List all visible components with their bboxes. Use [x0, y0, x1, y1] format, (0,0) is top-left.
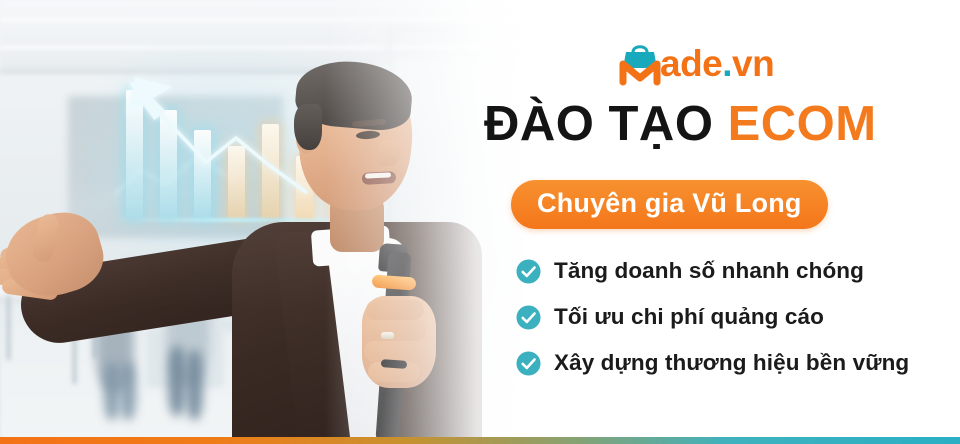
finger	[364, 341, 424, 362]
logo-mark	[616, 38, 664, 84]
list-item: Tăng doanh số nhanh chóng	[516, 248, 946, 294]
shopping-bag-icon	[616, 38, 664, 84]
bottom-accent-bar	[0, 437, 960, 444]
check-circle-icon	[516, 259, 541, 284]
finger	[366, 300, 424, 320]
logo-text-vn: vn	[732, 43, 774, 84]
page-title: ĐÀO TẠO ECOM	[484, 98, 946, 151]
expert-badge: Chuyên gia Vũ Long	[511, 180, 828, 229]
headline-main: ĐÀO TẠO	[484, 97, 713, 151]
list-item-label: Tối ưu chi phí quảng cáo	[554, 304, 824, 330]
headline-accent: ECOM	[728, 97, 877, 151]
logo-text-ade: ade	[660, 43, 722, 84]
list-item: Tối ưu chi phí quảng cáo	[516, 294, 946, 340]
microphone-grip-band	[381, 359, 407, 369]
finger	[364, 320, 426, 341]
finger-ring	[381, 332, 394, 339]
list-item-label: Tăng doanh số nhanh chóng	[554, 258, 864, 284]
promo-banner: ade.vn ĐÀO TẠO ECOM Chuyên gia Vũ Long T…	[0, 0, 960, 444]
sideburn	[294, 104, 322, 150]
list-item: Xây dựng thương hiệu bền vững	[516, 340, 946, 386]
check-circle-icon	[516, 351, 541, 376]
list-item-label: Xây dựng thương hiệu bền vững	[554, 350, 909, 376]
check-circle-icon	[516, 305, 541, 330]
logo-wordmark: ade.vn	[660, 45, 774, 84]
content-panel: ade.vn ĐÀO TẠO ECOM Chuyên gia Vũ Long T…	[470, 0, 960, 444]
logo-dot: .	[722, 43, 732, 84]
benefits-list: Tăng doanh số nhanh chóng Tối ưu chi phí…	[516, 248, 946, 386]
nose	[378, 140, 400, 166]
brand-logo[interactable]: ade.vn	[616, 36, 774, 84]
